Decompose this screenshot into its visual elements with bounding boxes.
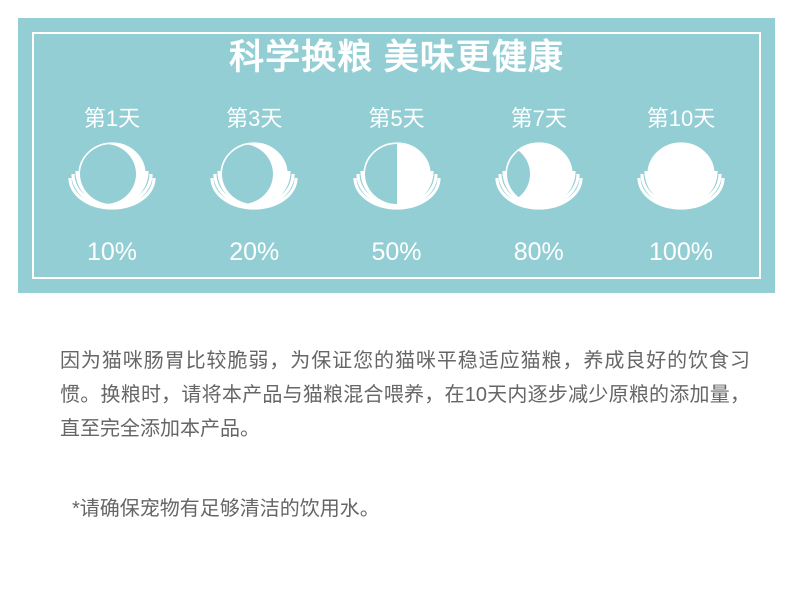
food-bowl-icon xyxy=(343,140,451,232)
feeding-step: 第1天 10% xyxy=(42,104,182,268)
feeding-step: 第3天 20% xyxy=(184,104,324,268)
feeding-steps-row: 第1天 10% xyxy=(42,104,751,268)
feeding-step: 第7天 80% xyxy=(469,104,609,268)
feeding-step: 第5天 50% xyxy=(327,104,467,268)
step-percent-label: 10% xyxy=(87,236,137,268)
feeding-step: 第10天 100% xyxy=(611,104,751,268)
step-day-label: 第10天 xyxy=(647,104,715,134)
product-instruction-page: 科学换粮 美味更健康 第1天 xyxy=(0,0,790,596)
food-bowl-icon xyxy=(200,140,308,232)
step-day-label: 第5天 xyxy=(368,104,424,134)
step-percent-label: 50% xyxy=(371,236,421,268)
step-percent-label: 20% xyxy=(229,236,279,268)
step-day-label: 第3天 xyxy=(226,104,282,134)
food-bowl-icon xyxy=(485,140,593,232)
instruction-paragraph: 因为猫咪肠胃比较脆弱，为保证您的猫咪平稳适应猫粮，养成良好的饮食习惯。换粮时，请… xyxy=(60,344,750,446)
step-day-label: 第7天 xyxy=(511,104,567,134)
food-bowl-icon xyxy=(58,140,166,232)
food-bowl-icon xyxy=(627,140,735,232)
footnote-text: *请确保宠物有足够清洁的饮用水。 xyxy=(72,493,732,525)
step-percent-label: 80% xyxy=(514,236,564,268)
feeding-schedule-banner: 科学换粮 美味更健康 第1天 xyxy=(18,18,775,293)
step-percent-label: 100% xyxy=(649,236,713,268)
banner-title: 科学换粮 美味更健康 xyxy=(18,36,775,80)
step-day-label: 第1天 xyxy=(84,104,140,134)
